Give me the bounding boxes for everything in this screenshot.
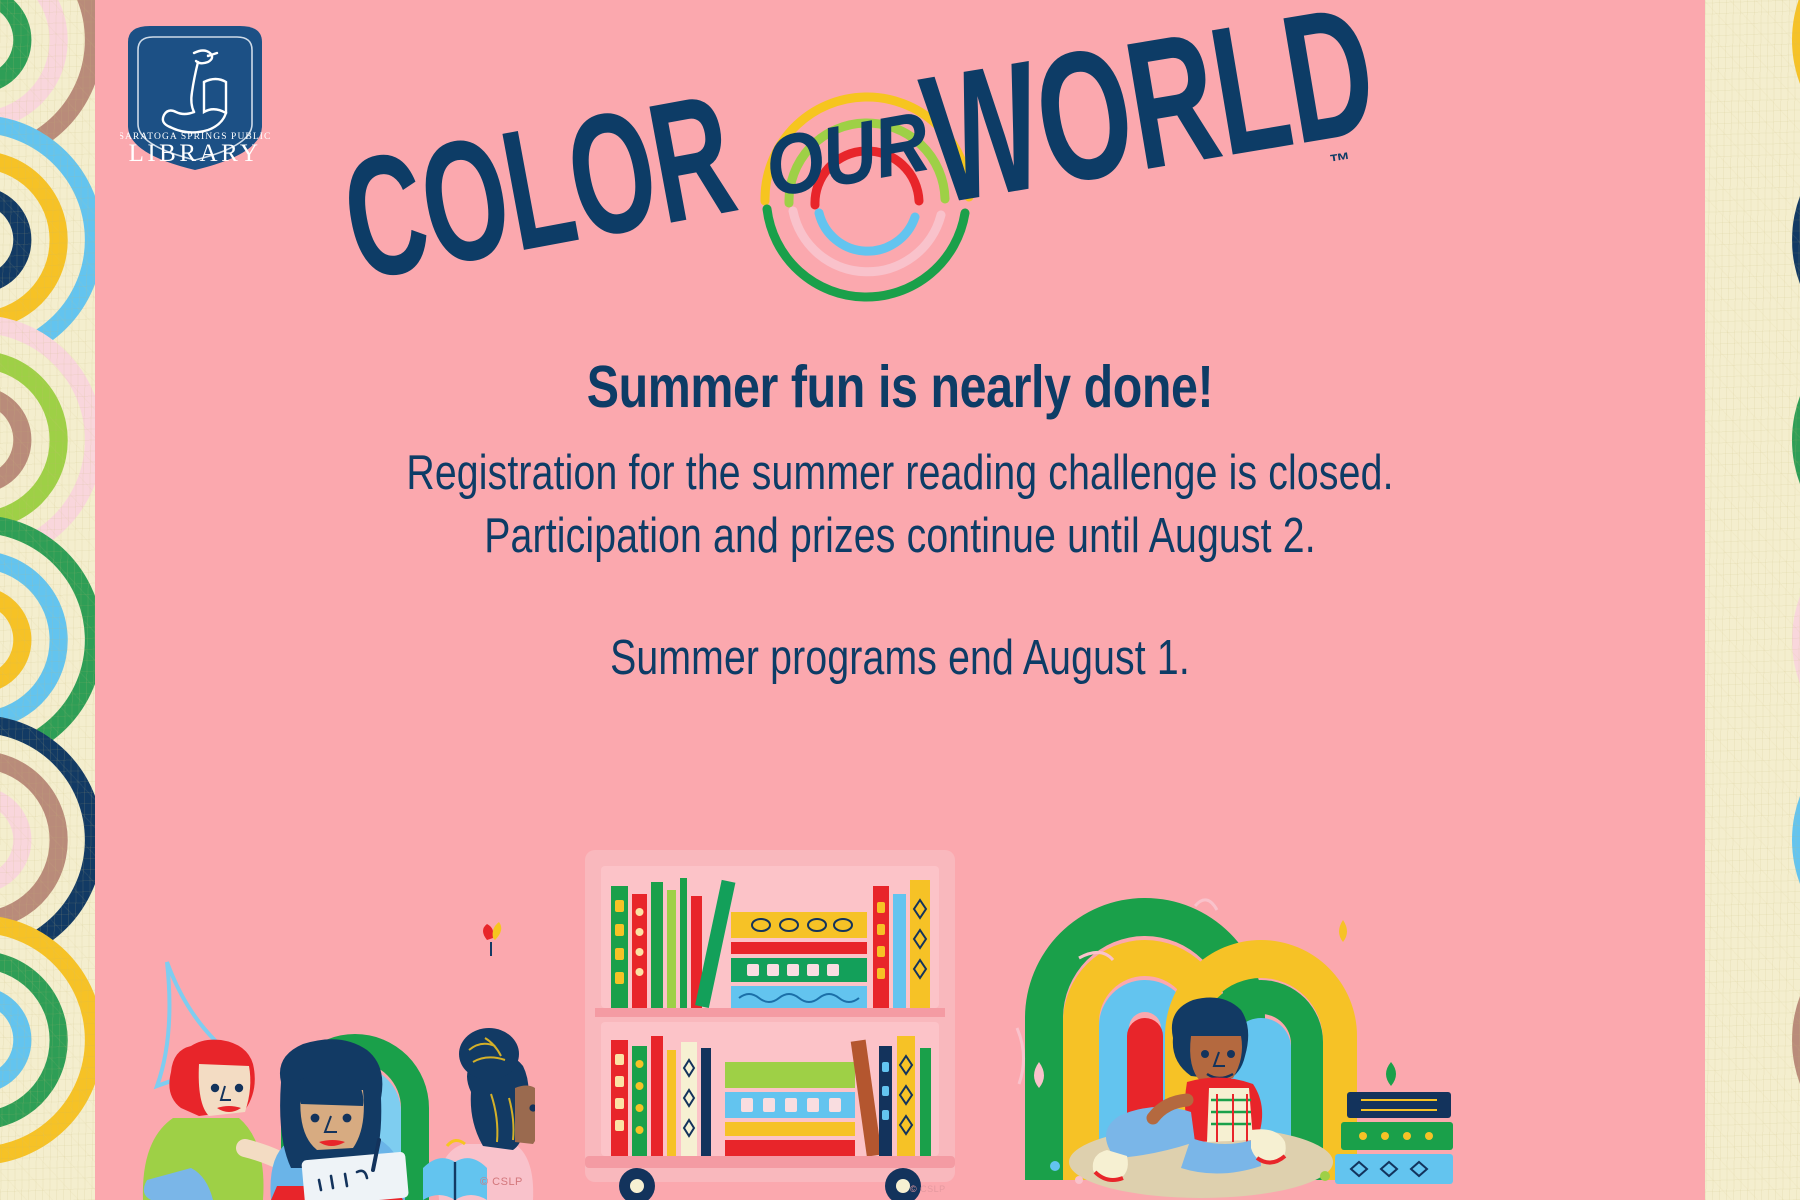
child-reading-with-rainbow-illustration (995, 850, 1455, 1200)
poster-panel: SARATOGA SPRINGS PUBLIC LIBRARY COLOR OU… (95, 0, 1705, 1200)
kids-drawing-and-reading-illustration (95, 850, 535, 1200)
concentric-ring-group (1792, 915, 1800, 1165)
body-line-1: Registration for the summer reading chal… (256, 442, 1544, 505)
title-word-color: COLOR (329, 55, 747, 319)
credit-cslp-center: © CSLP (910, 1184, 946, 1194)
logo-line-2: LIBRARY (129, 140, 262, 167)
left-border-pattern (0, 0, 95, 1200)
body-line-2: Participation and prizes continue until … (256, 505, 1544, 568)
trademark-symbol: ™ (1328, 149, 1352, 176)
headline: Summer fun is nearly done! (240, 355, 1560, 420)
poster-root: SARATOGA SPRINGS PUBLIC LIBRARY COLOR OU… (0, 0, 1800, 1200)
credit-cslp-left: © CSLP (480, 1176, 523, 1188)
right-border-pattern (1705, 0, 1800, 1200)
butterfly-icon (483, 922, 501, 956)
title-word-world: WORLD (910, 0, 1388, 246)
paper-texture (1705, 0, 1800, 1200)
book-cart-illustration (575, 850, 965, 1200)
book-stack (1335, 1092, 1453, 1184)
message-block: Summer fun is nearly done! Registration … (95, 355, 1705, 690)
saratoga-springs-public-library-logo: SARATOGA SPRINGS PUBLIC LIBRARY (120, 20, 270, 175)
body-line-3: Summer programs end August 1. (256, 627, 1544, 690)
ring (1792, 915, 1800, 1165)
title-lockup: COLOR OUR WORLD ™ (345, 55, 1415, 345)
concentric-ring-group (0, 915, 95, 1165)
open-book-icon (423, 1158, 487, 1200)
